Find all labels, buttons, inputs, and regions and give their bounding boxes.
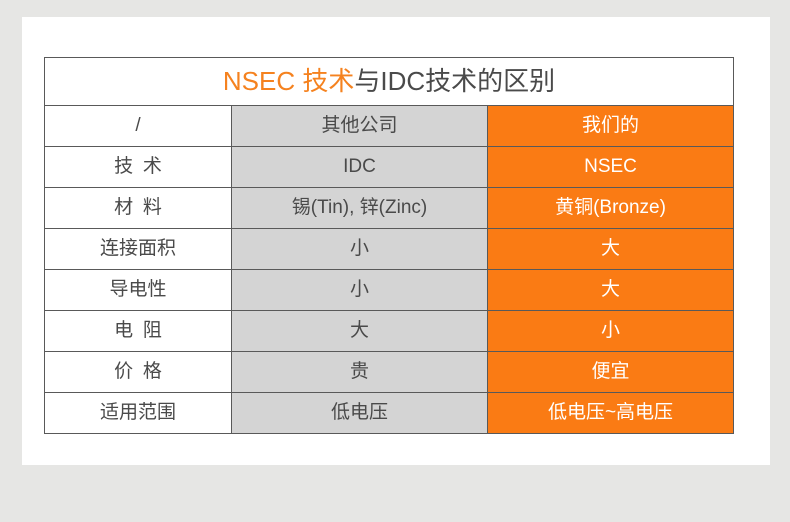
table-row: 电 阻 大 小	[45, 311, 734, 352]
row-other-value: 小	[232, 270, 488, 311]
content-canvas: NSEC 技术与IDC技术的区别 / 其他公司 我们的 技 术 IDC NSEC…	[22, 17, 770, 465]
table-row: 连接面积 小 大	[45, 229, 734, 270]
table-row: 材 料 锡(Tin), 锌(Zinc) 黄铜(Bronze)	[45, 188, 734, 229]
row-ours-value: 大	[488, 229, 734, 270]
row-other-value: 小	[232, 229, 488, 270]
row-label: 适用范围	[45, 393, 232, 434]
row-ours-value: NSEC	[488, 147, 734, 188]
row-other-value: 低电压	[232, 393, 488, 434]
row-other-value: 锡(Tin), 锌(Zinc)	[232, 188, 488, 229]
row-ours-value: 便宜	[488, 352, 734, 393]
row-label: 电 阻	[45, 311, 232, 352]
table-row: 适用范围 低电压 低电压~高电压	[45, 393, 734, 434]
row-label: 价 格	[45, 352, 232, 393]
table-row: 技 术 IDC NSEC	[45, 147, 734, 188]
table-title-row: NSEC 技术与IDC技术的区别	[45, 58, 734, 106]
row-ours-value: 小	[488, 311, 734, 352]
row-ours-value: 低电压~高电压	[488, 393, 734, 434]
comparison-table: NSEC 技术与IDC技术的区别 / 其他公司 我们的 技 术 IDC NSEC…	[44, 57, 734, 434]
row-label: 材 料	[45, 188, 232, 229]
table-row: 导电性 小 大	[45, 270, 734, 311]
row-other-value: 大	[232, 311, 488, 352]
row-label: 连接面积	[45, 229, 232, 270]
table-body: NSEC 技术与IDC技术的区别 / 其他公司 我们的 技 术 IDC NSEC…	[45, 58, 734, 434]
title-accent-text: NSEC 技术	[223, 66, 354, 96]
table-row: 价 格 贵 便宜	[45, 352, 734, 393]
table-row: / 其他公司 我们的	[45, 106, 734, 147]
row-label: 导电性	[45, 270, 232, 311]
row-ours-value: 大	[488, 270, 734, 311]
page-title: NSEC 技术与IDC技术的区别	[45, 58, 734, 106]
row-other-value: 其他公司	[232, 106, 488, 147]
row-ours-value: 我们的	[488, 106, 734, 147]
title-rest-text: 与IDC技术的区别	[354, 66, 555, 96]
row-label: 技 术	[45, 147, 232, 188]
row-other-value: IDC	[232, 147, 488, 188]
row-label: /	[45, 106, 232, 147]
row-other-value: 贵	[232, 352, 488, 393]
row-ours-value: 黄铜(Bronze)	[488, 188, 734, 229]
